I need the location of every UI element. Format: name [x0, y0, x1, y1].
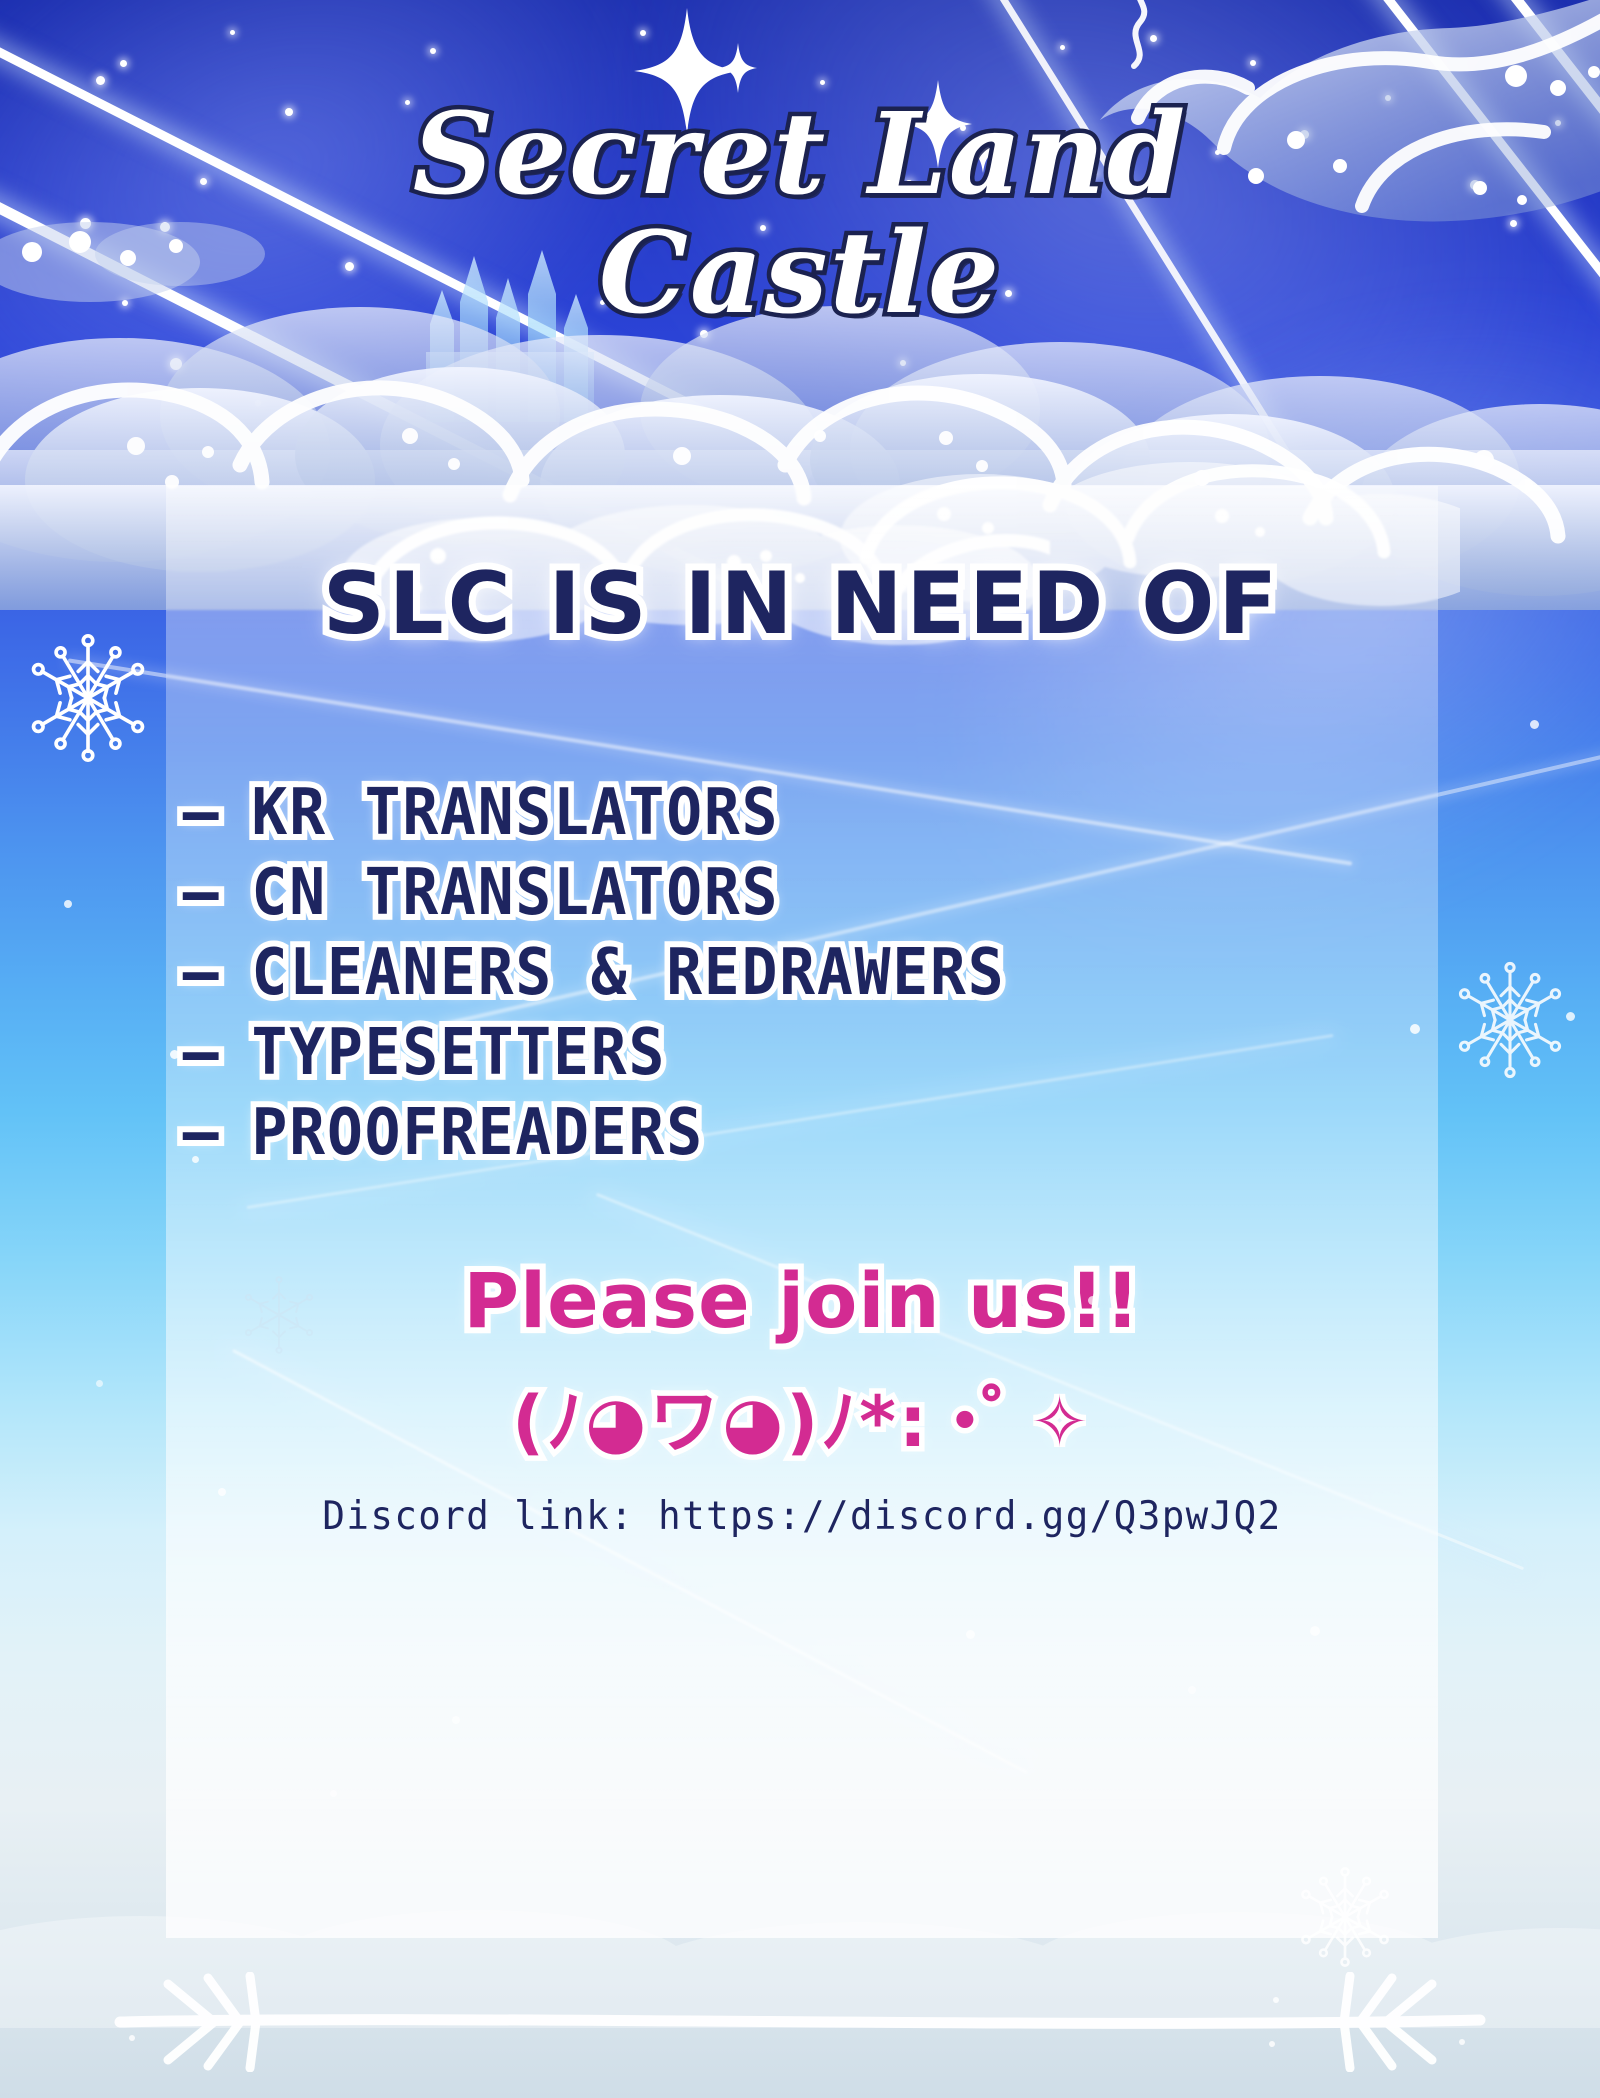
page-title: SLC IS IN NEED OF [166, 554, 1438, 654]
star-dot [640, 30, 646, 36]
snow-speck [1530, 720, 1539, 729]
bullet-dash: – [183, 776, 252, 850]
bullet-dash: – [183, 936, 252, 1010]
star-dot [255, 400, 261, 406]
star-dot [1060, 45, 1065, 50]
discord-link[interactable]: Discord link: https://discord.gg/Q3pwJQ2 [191, 1494, 1412, 1539]
list-item-label: TYPESETTERS [252, 1016, 667, 1090]
list-item-label: CN TRANSLATORS [252, 856, 780, 930]
poster-title: Secret Land Castle [0, 92, 1600, 337]
star-dot [1150, 35, 1157, 42]
list-item: – CLEANERS & REDRAWERS [166, 936, 1349, 1010]
list-item-label: CLEANERS & REDRAWERS [252, 936, 1006, 1010]
snowflake-icon [1446, 956, 1574, 1084]
list-item: – PROOFREADERS [166, 1096, 1349, 1170]
star-dot [120, 60, 127, 67]
list-item-label: PROOFREADERS [252, 1096, 704, 1170]
list-item: – CN TRANSLATORS [166, 856, 1349, 930]
snow-speck [1566, 1012, 1575, 1021]
snowflake-icon [18, 628, 158, 768]
list-item: – TYPESETTERS [166, 1016, 1349, 1090]
needs-list: – KR TRANSLATORS – CN TRANSLATORS – CLEA… [166, 776, 1438, 1176]
star-dot [96, 76, 105, 85]
title-line-2: Castle [0, 211, 1600, 336]
star-dot [820, 80, 825, 85]
kaomoji-decoration: (ﾉ◕ワ◕)ﾉ*:・゚ ✧ [166, 1366, 1438, 1467]
star-dot [430, 48, 436, 54]
snow-speck [64, 900, 72, 908]
star-dot [900, 360, 906, 366]
sparkle-icon [718, 42, 758, 94]
double-arrow-icon [110, 1972, 1490, 2072]
star-dot [170, 358, 182, 370]
title-line-1: Secret Land [0, 92, 1600, 217]
star-dot [230, 30, 235, 35]
content-panel: SLC IS IN NEED OF – KR TRANSLATORS – CN … [166, 486, 1438, 1938]
bullet-dash: – [183, 856, 252, 930]
bullet-dash: – [183, 1016, 252, 1090]
poster-canvas: SLC IS IN NEED OF – KR TRANSLATORS – CN … [0, 0, 1600, 2098]
star-dot [1250, 60, 1256, 66]
bullet-dash: – [183, 1096, 252, 1170]
snow-speck [96, 1380, 103, 1387]
list-item-label: KR TRANSLATORS [252, 776, 780, 850]
list-item: – KR TRANSLATORS [166, 776, 1349, 850]
call-to-action-text: Please join us!! [166, 1256, 1438, 1345]
